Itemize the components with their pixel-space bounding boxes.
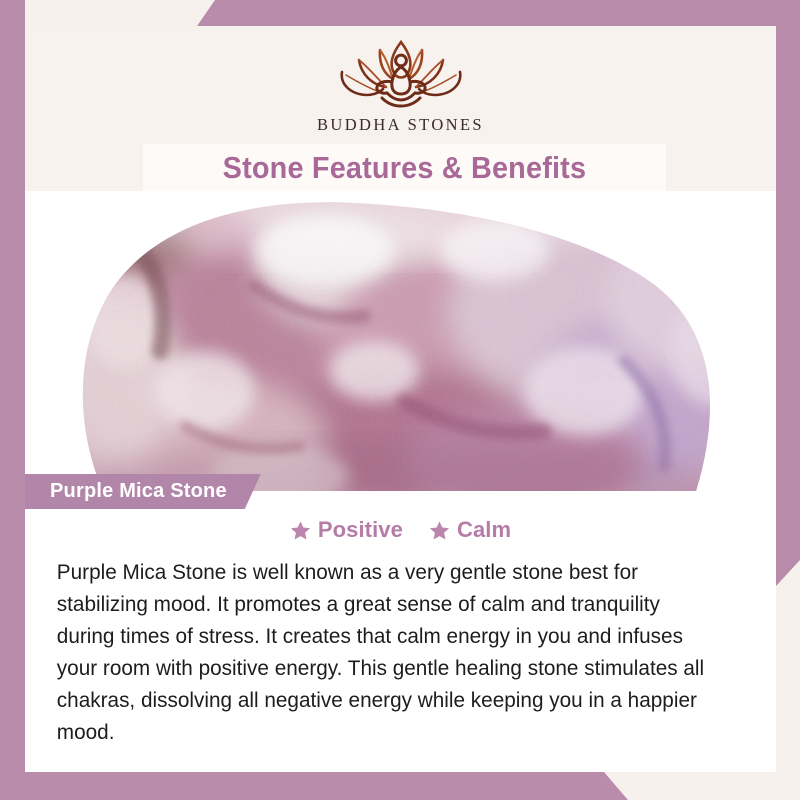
tag-label: Calm [457,517,511,543]
frame-top-band [197,0,800,26]
star-icon [290,520,311,541]
stone-illustration [25,191,776,491]
content-card: BUDDHA STONES Stone Features & Benefits [25,28,776,772]
tag-label: Positive [318,517,403,543]
brand-header: BUDDHA STONES [25,28,776,144]
page-title: Stone Features & Benefits [223,150,587,186]
description-text: Purple Mica Stone is well known as a ver… [51,556,726,748]
stone-name-banner: Purple Mica Stone [18,474,261,509]
tag-calm: Calm [429,517,511,543]
stone-name-label: Purple Mica Stone [50,480,227,503]
stone-photo [25,191,776,491]
frame-right-band [776,0,800,586]
attribute-tags: Positive Calm [51,517,750,543]
lotus-meditation-icon [316,36,486,114]
star-icon [429,520,450,541]
frame-bottom-band [0,772,628,800]
brand-name: BUDDHA STONES [317,115,484,135]
description-panel: Positive Calm Purple Mica Stone is well … [25,491,776,772]
frame-left-band [0,0,25,790]
tag-positive: Positive [290,517,403,543]
section-title-band: Stone Features & Benefits [143,144,666,191]
